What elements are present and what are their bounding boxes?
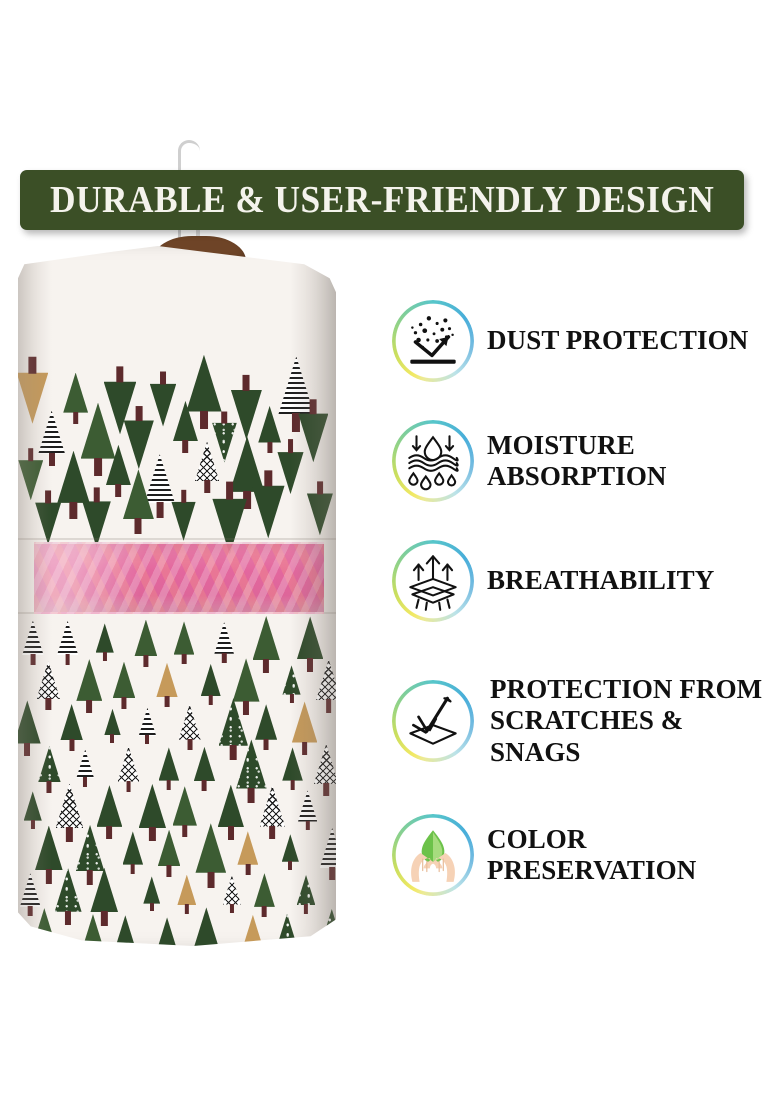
pine-tree-motif <box>174 621 195 664</box>
header-banner: DURABLE & USER-FRIENDLY DESIGN <box>20 170 744 230</box>
pine-tree-motif <box>60 704 82 751</box>
color-preservation-icon <box>400 822 466 888</box>
pine-tree-motif <box>96 623 114 661</box>
pine-tree-motif <box>191 907 222 946</box>
garment-bag <box>18 246 336 946</box>
pine-tree-motif <box>123 469 154 534</box>
pine-tree-motif <box>57 621 78 665</box>
pine-tree-motif <box>139 708 157 745</box>
pine-tree-motif <box>143 876 160 911</box>
breathability-icon <box>400 548 466 614</box>
bag-shadow-left <box>18 246 52 946</box>
color-preservation-badge <box>392 814 474 896</box>
pine-tree-motif <box>82 914 104 946</box>
pine-tree-motif <box>179 704 201 750</box>
feature-label: BREATHABILITY <box>487 565 714 596</box>
pine-tree-motif <box>113 662 136 710</box>
pine-tree-motif <box>237 831 258 875</box>
pine-tree-motif <box>214 622 234 663</box>
dust-protection-badge <box>392 300 474 382</box>
pine-tree-motif <box>195 823 226 887</box>
feature-row-moisture-absorption: MOISTURE ABSORPTION <box>392 420 780 502</box>
pine-tree-motif <box>242 915 263 946</box>
pine-tree-motif <box>123 831 144 874</box>
bag-shadow-right <box>290 246 336 946</box>
feature-row-breathability: BREATHABILITY <box>392 540 780 622</box>
page-title: DURABLE & USER-FRIENDLY DESIGN <box>50 181 714 219</box>
pine-tree-motif <box>254 873 275 917</box>
pine-tree-motif <box>134 620 157 668</box>
moisture-absorption-badge <box>392 420 474 502</box>
product-photo <box>0 120 370 960</box>
pine-tree-motif <box>252 470 285 538</box>
breathability-badge <box>392 540 474 622</box>
mesh-window <box>34 542 324 614</box>
pine-tree-motif <box>158 830 181 878</box>
feature-row-dust-protection: DUST PROTECTION <box>392 300 780 382</box>
pine-tree-motif <box>104 709 120 743</box>
scratch-protection-badge <box>392 680 474 762</box>
feature-label: PROTECTION FROM SCRATCHES & SNAGS <box>490 674 780 768</box>
feature-label: COLOR PRESERVATION <box>487 824 780 887</box>
pine-tree-motif <box>76 750 94 788</box>
window-glare <box>34 544 324 612</box>
feature-row-scratch-protection: PROTECTION FROM SCRATCHES & SNAGS <box>392 674 780 768</box>
scratch-protection-icon <box>400 688 466 754</box>
bag-seam-top <box>18 538 336 540</box>
pine-tree-motif <box>223 875 241 913</box>
pine-tree-motif <box>115 915 136 946</box>
dust-protection-icon <box>400 308 466 374</box>
feature-row-color-preservation: COLOR PRESERVATION <box>392 814 780 896</box>
pine-tree-motif <box>156 663 177 708</box>
pine-tree-motif <box>194 747 215 792</box>
pine-tree-motif <box>158 917 176 946</box>
pine-tree-motif <box>171 490 195 541</box>
moisture-absorption-icon <box>400 428 466 494</box>
feature-label: MOISTURE ABSORPTION <box>487 430 780 493</box>
pine-tree-motif <box>260 785 285 838</box>
feature-label: DUST PROTECTION <box>487 325 748 356</box>
